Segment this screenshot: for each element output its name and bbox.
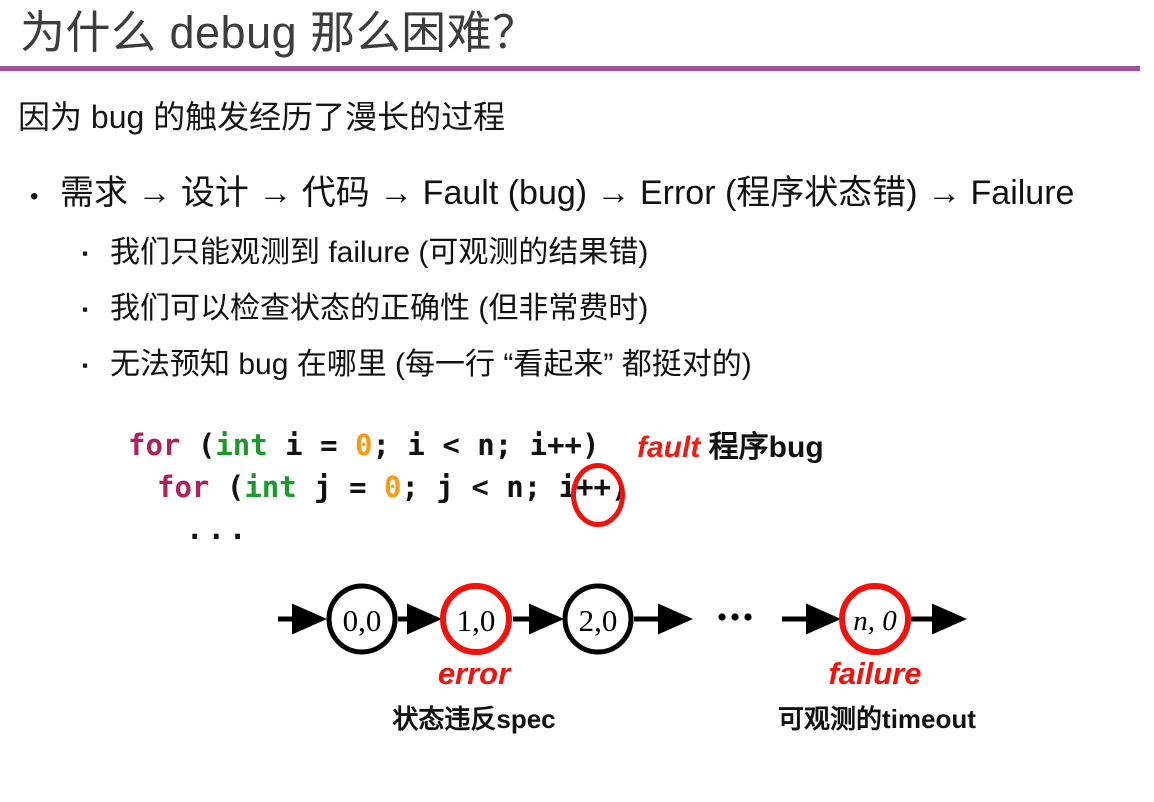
bullet-level2-1-text: 我们只能观测到 failure (可观测的结果错): [110, 231, 648, 275]
code-punct: (: [180, 428, 215, 462]
bug-highlight-ellipse: [571, 463, 625, 527]
bullet-level2-1: ▪ 我们只能观测到 failure (可观测的结果错): [82, 231, 648, 279]
fault-annotation: fault 程序bug: [637, 428, 824, 468]
bullet-level2-3: ▪ 无法预知 bug 在哪里 (每一行 “看起来” 都挺对的): [82, 343, 752, 391]
code-keyword-for: for: [128, 428, 180, 462]
diagram-node-sn-label: n, 0: [853, 605, 897, 637]
subtitle-text: 因为 bug 的触发经历了漫长的过程: [18, 96, 505, 138]
code-line-1: for (int i = 0; i < n; i++): [128, 424, 628, 466]
code-type-int: int: [215, 428, 267, 462]
failure-label: failure: [800, 656, 950, 692]
bullet-square-icon: ▪: [82, 344, 110, 388]
state-machine-diagram: 0,0 1,0 2,0 n, 0: [0, 560, 1154, 690]
diagram-node-s0-label: 0,0: [343, 603, 382, 638]
code-type-int: int: [244, 470, 296, 504]
diagram-ellipsis: [718, 613, 751, 620]
error-caption: 状态违反spec: [384, 702, 564, 736]
code-line-3: ...: [128, 508, 628, 550]
diagram-node-s2: 2,0: [565, 586, 631, 652]
code-var-init: i =: [268, 428, 355, 462]
code-keyword-for: for: [157, 470, 209, 504]
code-cond-tail: ; i < n; i++): [372, 428, 599, 462]
bullet-level1: • 需求 → 设计 → 代码 → Fault (bug) → Error (程序…: [30, 170, 1074, 220]
error-label: error: [404, 656, 544, 692]
bullet-square-icon: ▪: [82, 232, 110, 276]
code-punct: (: [209, 470, 244, 504]
bullet-level2-2: ▪ 我们可以检查状态的正确性 (但非常费时): [82, 287, 648, 335]
bullet-level2-2-text: 我们可以检查状态的正确性 (但非常费时): [110, 287, 648, 331]
diagram-node-s1-label: 1,0: [457, 603, 496, 638]
code-number-zero: 0: [384, 470, 401, 504]
code-number-zero: 0: [355, 428, 372, 462]
bullet-level1-text: 需求 → 设计 → 代码 → Fault (bug) → Error (程序状态…: [60, 170, 1074, 216]
diagram-node-s1: 1,0: [443, 586, 509, 652]
bullet-square-icon: ▪: [82, 288, 110, 332]
diagram-node-s2-label: 2,0: [579, 603, 618, 638]
bullet-dot-icon: •: [30, 174, 60, 220]
failure-caption: 可观测的timeout: [778, 702, 976, 736]
fault-note: 程序bug: [709, 431, 824, 464]
code-block: for (int i = 0; i < n; i++)for (int j = …: [128, 424, 628, 550]
fault-label: fault: [637, 431, 700, 464]
code-var-init: j =: [297, 470, 384, 504]
page-title: 为什么 debug 那么困难？: [20, 4, 538, 62]
bullet-level2-3-text: 无法预知 bug 在哪里 (每一行 “看起来” 都挺对的): [110, 343, 752, 387]
title-divider: [0, 66, 1140, 71]
diagram-node-s0: 0,0: [329, 586, 395, 652]
slide-canvas: 为什么 debug 那么困难？ 因为 bug 的触发经历了漫长的过程 • 需求 …: [0, 0, 1154, 802]
diagram-node-sn: n, 0: [842, 586, 908, 652]
code-line-2: for (int j = 0; j < n; i++): [128, 466, 628, 508]
